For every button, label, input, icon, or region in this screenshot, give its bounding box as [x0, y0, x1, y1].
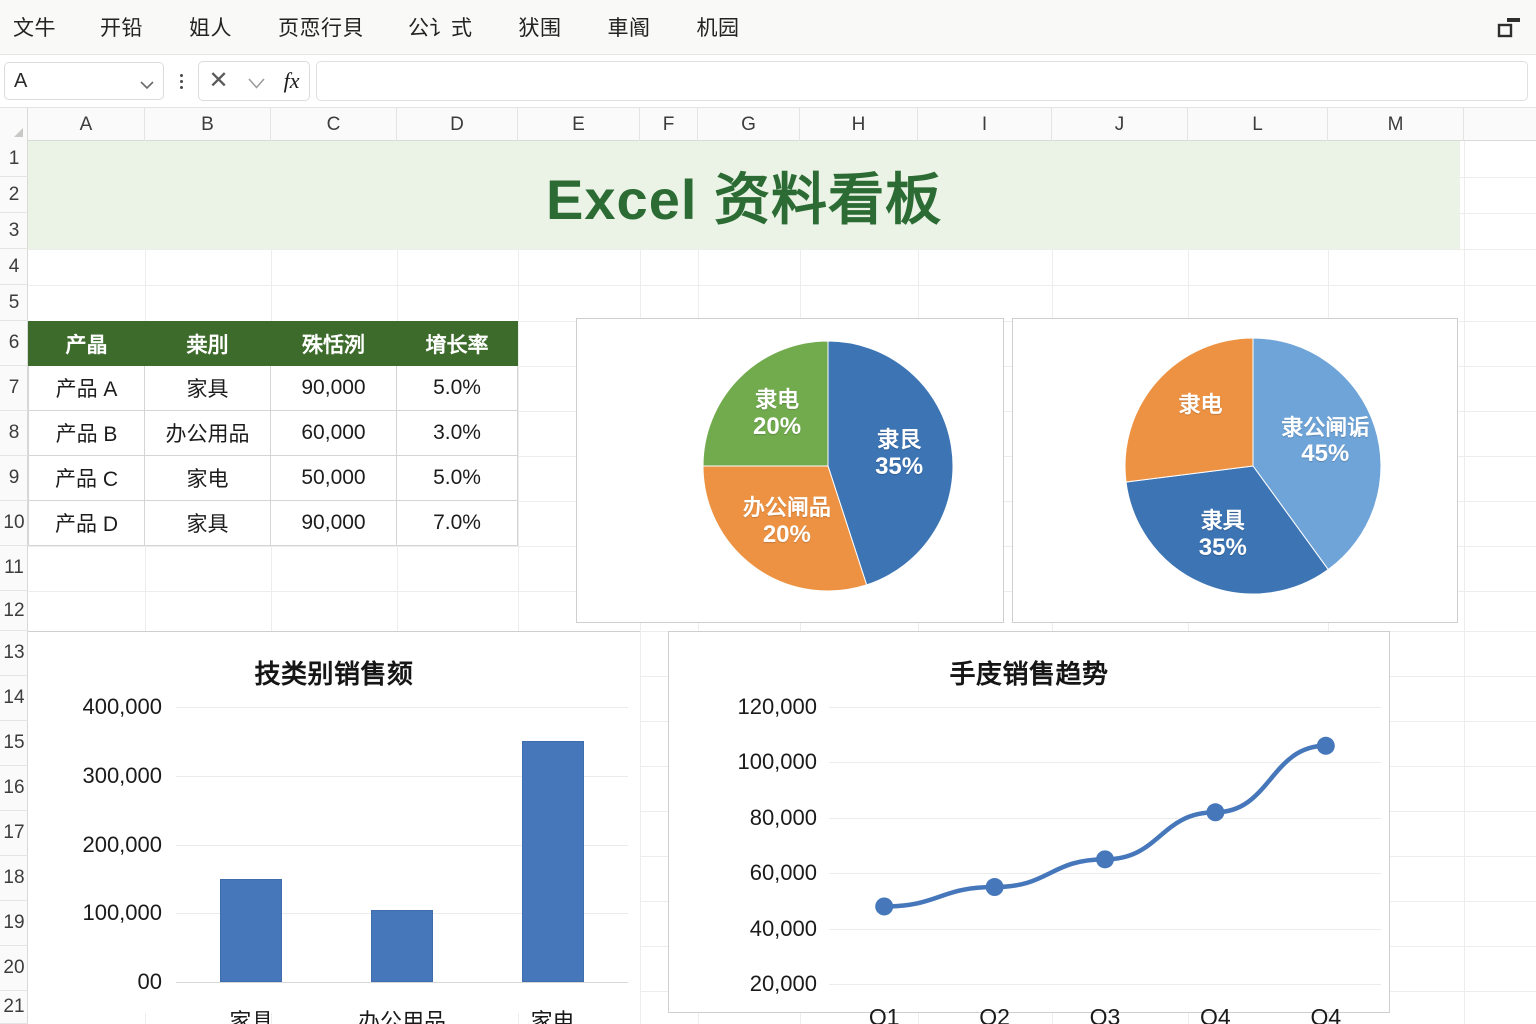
line-chart-point[interactable]	[1096, 850, 1114, 868]
row-headers: 123456789101112131415161718192021	[0, 141, 28, 1024]
row-header-19[interactable]: 19	[0, 901, 28, 946]
page-title: Excel 资料看板	[546, 155, 942, 236]
row-header-21[interactable]: 21	[0, 991, 28, 1024]
formula-bar: A ✕ fx	[0, 55, 1536, 108]
menu-item-view[interactable]: 机园	[697, 12, 740, 42]
function-icon[interactable]: fx	[284, 68, 300, 94]
bar-chart-y-tick: 300,000	[82, 763, 162, 789]
menu-item-data[interactable]: 犾围	[519, 12, 562, 42]
column-header-L[interactable]: L	[1188, 108, 1328, 141]
cell-growth: 5.0%	[397, 456, 518, 500]
bar-chart-gridline	[176, 707, 628, 708]
table-header-amount: 殊恬洌	[271, 321, 397, 366]
data-table: 产晶 桒刖 殊恬洌 堉长率 产品 A 家具 90,000 5.0% 产品 B 办…	[28, 321, 518, 546]
menu-bar: 文牛 开铅 姐人 页恧行貝 公讠式 犾围 車阍 机园	[0, 0, 1536, 55]
line-chart-x-tick: Q4	[1200, 1004, 1231, 1024]
table-row[interactable]: 产品 B 办公用品 60,000 3.0%	[28, 411, 518, 456]
pie-chart-left-panel[interactable]: 隶艮35%办公闸品20%隶电20%	[576, 318, 1004, 623]
row-header-10[interactable]: 10	[0, 501, 28, 546]
cell-product: 产品 A	[28, 366, 145, 410]
cell-product: 产品 B	[28, 411, 145, 455]
cell-category: 家具	[145, 366, 271, 410]
line-chart-series	[669, 632, 1391, 1014]
grid-column-line	[1464, 141, 1465, 1024]
pie-slice[interactable]	[1125, 338, 1253, 482]
cell-amount: 90,000	[271, 366, 397, 410]
formula-input[interactable]	[316, 61, 1528, 101]
column-header-M[interactable]: M	[1328, 108, 1464, 141]
column-header-E[interactable]: E	[518, 108, 640, 141]
bar-chart-bar[interactable]	[220, 879, 282, 982]
row-header-11[interactable]: 11	[0, 546, 28, 591]
line-chart-point[interactable]	[1206, 803, 1224, 821]
pie-chart-right	[1013, 319, 1459, 624]
row-header-20[interactable]: 20	[0, 946, 28, 991]
column-header-F[interactable]: F	[640, 108, 698, 141]
corner-triangle-icon	[14, 128, 23, 137]
line-chart-x-tick: Q1	[869, 1004, 900, 1024]
row-header-17[interactable]: 17	[0, 811, 28, 856]
column-header-I[interactable]: I	[918, 108, 1052, 141]
dashboard-title-banner: Excel 资料看板	[28, 141, 1460, 249]
cell-amount: 50,000	[271, 456, 397, 500]
column-header-D[interactable]: D	[397, 108, 518, 141]
table-header-growth: 堉长率	[397, 321, 518, 366]
table-row[interactable]: 产品 D 家具 90,000 7.0%	[28, 501, 518, 546]
bar-chart-y-tick: 100,000	[82, 900, 162, 926]
menu-item-home[interactable]: 开铅	[100, 12, 143, 42]
table-header-row: 产晶 桒刖 殊恬洌 堉长率	[28, 321, 518, 366]
line-chart-x-tick: Q3	[1090, 1004, 1121, 1024]
line-chart-point[interactable]	[1317, 737, 1335, 755]
table-header-category: 桒刖	[145, 321, 271, 366]
close-icon[interactable]: ✕	[209, 69, 229, 93]
more-options-icon[interactable]	[170, 74, 192, 89]
row-header-13[interactable]: 13	[0, 631, 28, 676]
pie-chart-left	[577, 319, 1005, 624]
bar-chart-gridline	[176, 982, 628, 983]
column-header-J[interactable]: J	[1052, 108, 1188, 141]
bar-chart-x-tick: 家具	[229, 1004, 273, 1024]
bar-chart-plot: 400,000300,000200,000100,00000家具办公用品家电技关…	[28, 632, 640, 1014]
bar-chart-y-tick: 200,000	[82, 832, 162, 858]
row-header-3[interactable]: 3	[0, 213, 28, 249]
column-header-G[interactable]: G	[698, 108, 800, 141]
grid-row-line	[28, 285, 1536, 286]
bar-chart-y-tick: 400,000	[82, 694, 162, 720]
chevron-down-icon[interactable]	[140, 77, 154, 86]
row-header-4[interactable]: 4	[0, 249, 28, 285]
menu-item-file[interactable]: 文牛	[13, 12, 56, 42]
cell-amount: 90,000	[271, 501, 397, 545]
row-header-1[interactable]: 1	[0, 141, 28, 177]
column-header-A[interactable]: A	[28, 108, 145, 141]
spreadsheet-grid: ABCDEFGHIJLM 123456789101112131415161718…	[0, 108, 1536, 1024]
cell-category: 家具	[145, 501, 271, 545]
row-header-7[interactable]: 7	[0, 366, 28, 411]
bar-chart-y-tick: 00	[138, 969, 162, 995]
line-chart-x-tick: Q2	[979, 1004, 1010, 1024]
line-chart-panel[interactable]: 手庋销售趋势 120,000100,00080,00060,00040,0002…	[668, 631, 1390, 1013]
row-header-18[interactable]: 18	[0, 856, 28, 901]
cell-growth: 7.0%	[397, 501, 518, 545]
row-header-14[interactable]: 14	[0, 676, 28, 721]
grid-row-line	[28, 249, 1536, 250]
row-header-8[interactable]: 8	[0, 411, 28, 456]
row-header-16[interactable]: 16	[0, 766, 28, 811]
row-header-5[interactable]: 5	[0, 285, 28, 321]
column-header-B[interactable]: B	[145, 108, 271, 141]
line-chart-x-tick: Q4	[1310, 1004, 1341, 1024]
bar-chart-panel[interactable]: 技类别销售颏 400,000300,000200,000100,00000家具办…	[28, 631, 640, 1013]
table-header-product: 产晶	[28, 321, 145, 366]
table-row[interactable]: 产品 A 家具 90,000 5.0%	[28, 366, 518, 411]
check-icon[interactable]	[248, 76, 265, 87]
cell-product: 产品 D	[28, 501, 145, 545]
column-headers: ABCDEFGHIJLM	[0, 108, 1536, 141]
cell-amount: 60,000	[271, 411, 397, 455]
cell-area[interactable]: Excel 资料看板 产晶 桒刖 殊恬洌 堉长率 产品 A 家具 90,000 …	[28, 141, 1536, 1024]
menu-item-insert[interactable]: 姐人	[189, 12, 232, 42]
cell-category: 办公用品	[145, 411, 271, 455]
row-header-2[interactable]: 2	[0, 177, 28, 213]
cell-growth: 3.0%	[397, 411, 518, 455]
row-header-12[interactable]: 12	[0, 591, 28, 631]
row-header-6[interactable]: 6	[0, 321, 28, 366]
line-chart-plot: 120,000100,00080,00060,00040,00020,000Q1…	[669, 632, 1281, 1014]
row-header-15[interactable]: 15	[0, 721, 28, 766]
line-chart-point[interactable]	[986, 878, 1004, 896]
name-box[interactable]: A	[4, 62, 164, 100]
cell-category: 家电	[145, 456, 271, 500]
table-row[interactable]: 产品 C 家电 50,000 5.0%	[28, 456, 518, 501]
bar-chart-bar[interactable]	[522, 741, 584, 982]
column-header-H[interactable]: H	[800, 108, 918, 141]
line-chart-point[interactable]	[875, 897, 893, 915]
select-all-corner[interactable]	[0, 108, 28, 141]
bar-chart-bar[interactable]	[371, 910, 433, 982]
pie-slice[interactable]	[703, 341, 828, 466]
bar-chart-x-tick: 办公用品	[358, 1004, 446, 1024]
cell-product: 产品 C	[28, 456, 145, 500]
formula-actions: ✕ fx	[198, 61, 310, 101]
menu-item-review[interactable]: 車阍	[608, 12, 651, 42]
spreadsheet-app: 文牛 开铅 姐人 页恧行貝 公讠式 犾围 車阍 机园 A ✕ fx	[0, 0, 1536, 1024]
menu-item-formulas[interactable]: 公讠式	[408, 12, 473, 42]
panel-layout-icon[interactable]	[1496, 13, 1522, 39]
menu-item-page-layout[interactable]: 页恧行貝	[278, 12, 364, 42]
cell-growth: 5.0%	[397, 366, 518, 410]
pie-chart-right-panel[interactable]: 隶公闸诟45%隶具35%隶电	[1012, 318, 1458, 623]
name-box-value: A	[14, 70, 27, 93]
bar-chart-x-tick: 家电	[531, 1004, 575, 1024]
column-header-C[interactable]: C	[271, 108, 397, 141]
row-header-9[interactable]: 9	[0, 456, 28, 501]
